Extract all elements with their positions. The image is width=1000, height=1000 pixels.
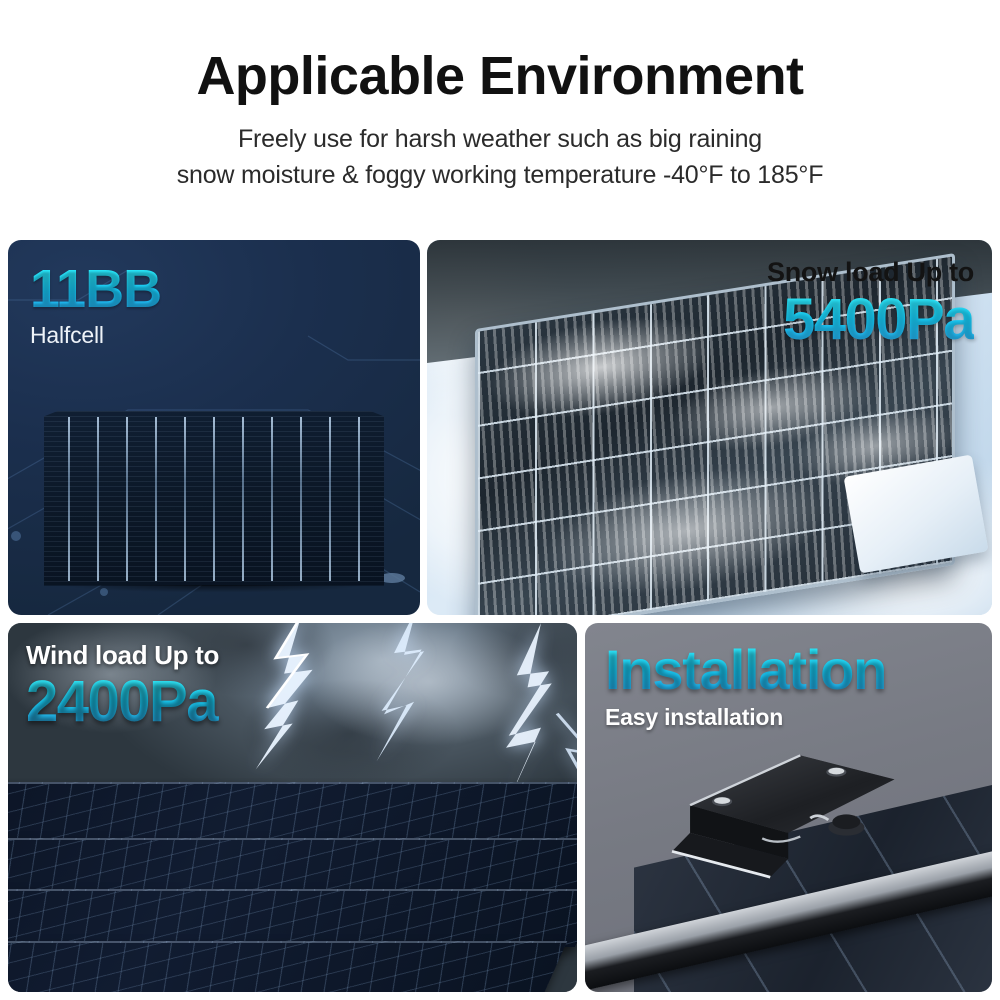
installation-subline: Easy installation xyxy=(605,704,886,731)
installation-text-block: Installation Easy installation xyxy=(605,641,886,731)
header: Applicable Environment Freely use for ha… xyxy=(0,0,1000,222)
z-bracket-icon xyxy=(650,748,910,896)
subtitle-block: Freely use for harsh weather such as big… xyxy=(0,122,1000,193)
panel-row xyxy=(8,838,577,896)
wind-load-value: 2400Pa xyxy=(26,672,219,731)
panel-halfcell[interactable]: 11BB Halfcell xyxy=(8,240,420,615)
cell-drop-shadow xyxy=(44,585,384,595)
installation-headline: Installation xyxy=(605,641,886,699)
halfcell-text-block: 11BB Halfcell xyxy=(30,262,161,349)
snow-load-text-block: Snow load Up to 5400Pa xyxy=(767,258,974,349)
panel-wind-load[interactable]: Wind load Up to 2400Pa xyxy=(8,623,577,992)
panel-row xyxy=(8,782,577,840)
cell-body xyxy=(44,411,384,591)
snow-load-label: Snow load Up to xyxy=(767,258,974,288)
lightning-bolt-icon xyxy=(349,623,474,771)
snow-load-value: 5400Pa xyxy=(767,290,974,349)
subtitle-line-2: snow moisture & foggy working temperatur… xyxy=(0,158,1000,194)
panel-row xyxy=(8,941,567,992)
subtitle-line-1: Freely use for harsh weather such as big… xyxy=(0,122,1000,158)
panel-installation[interactable]: Installation Easy installation xyxy=(585,623,992,992)
halfcell-headline: 11BB xyxy=(30,262,161,316)
solar-cell-illustration xyxy=(44,411,384,591)
wind-load-text-block: Wind load Up to 2400Pa xyxy=(26,641,219,731)
page-title: Applicable Environment xyxy=(0,46,1000,106)
feature-panel-grid: 11BB Halfcell xyxy=(8,240,992,992)
cell-busbars xyxy=(44,411,384,591)
solar-panel-array xyxy=(8,778,577,992)
panel-row xyxy=(8,889,577,947)
applicable-environment-infographic: Applicable Environment Freely use for ha… xyxy=(0,0,1000,1000)
halfcell-subline: Halfcell xyxy=(30,322,161,349)
wind-load-label: Wind load Up to xyxy=(26,641,219,670)
panel-snow-load[interactable]: Snow load Up to 5400Pa xyxy=(427,240,992,615)
